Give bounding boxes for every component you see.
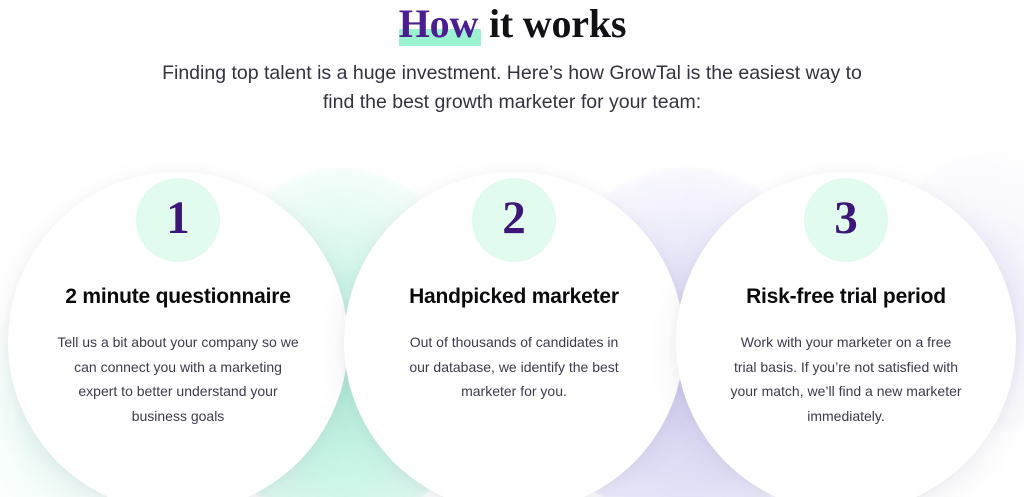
step-number-badge-3: 3 — [804, 178, 888, 262]
page-title-highlight: How — [398, 2, 479, 47]
step-number-badge-2: 2 — [472, 178, 556, 262]
step-number-badge-1: 1 — [136, 178, 220, 262]
step-body-1: Tell us a bit about your company so we c… — [53, 330, 303, 428]
page-title-rest: it works — [479, 1, 626, 46]
section-subtitle: Finding top talent is a huge investment.… — [162, 59, 862, 117]
step-title-1: 2 minute questionnaire — [53, 284, 303, 310]
steps-list: 1 2 minute questionnaire Tell us a bit a… — [0, 172, 1024, 497]
step-title-3: Risk-free trial period — [721, 284, 971, 310]
step-title-2: Handpicked marketer — [389, 284, 639, 310]
step-card-3: 3 Risk-free trial period Work with your … — [676, 172, 1016, 497]
step-card-1: 1 2 minute questionnaire Tell us a bit a… — [8, 172, 348, 497]
section-header: How it works Finding top talent is a hug… — [0, 0, 1024, 117]
how-it-works-section: How it works Finding top talent is a hug… — [0, 0, 1024, 497]
step-number-2: 2 — [502, 195, 526, 242]
step-number-1: 1 — [166, 195, 190, 242]
step-card-2: 2 Handpicked marketer Out of thousands o… — [344, 172, 684, 497]
page-title: How it works — [0, 2, 1024, 47]
step-body-2: Out of thousands of candidates in our da… — [398, 330, 630, 404]
step-number-3: 3 — [834, 195, 858, 242]
step-body-3: Work with your marketer on a free trial … — [730, 330, 962, 428]
